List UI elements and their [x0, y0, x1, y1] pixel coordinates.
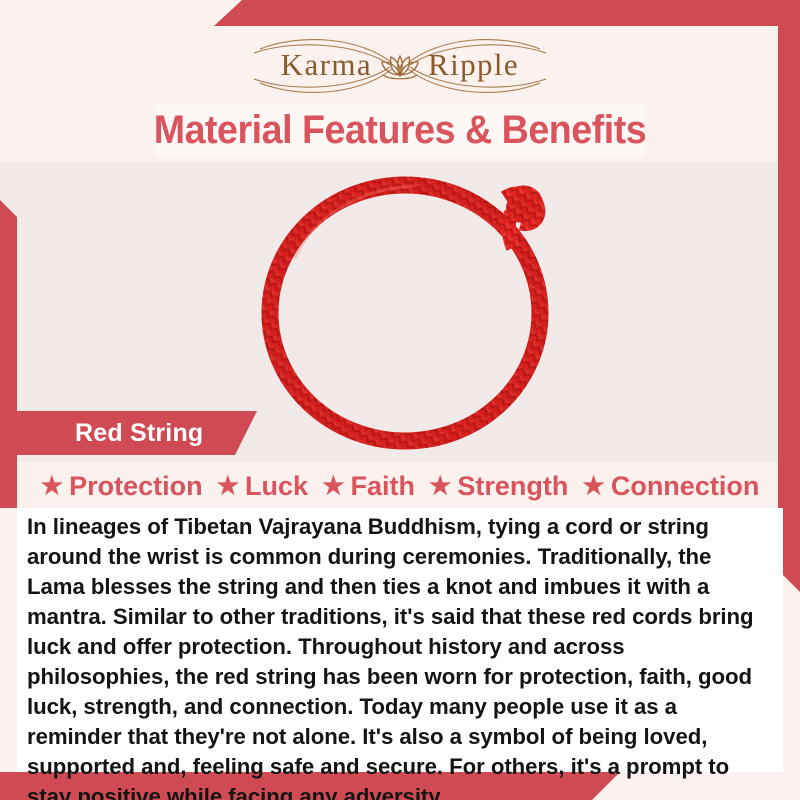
feature-label: Connection: [611, 471, 760, 502]
description-text: In lineages of Tibetan Vajrayana Buddhis…: [17, 512, 783, 800]
feature-label: Faith: [350, 471, 415, 502]
star-icon: ★: [582, 474, 604, 499]
feature-label: Luck: [245, 471, 308, 502]
feature-item-protection: ★ Protection: [34, 471, 210, 502]
feature-label: Protection: [69, 471, 203, 502]
bracelet-cord-shading: [270, 185, 540, 441]
description-panel: In lineages of Tibetan Vajrayana Buddhis…: [17, 508, 783, 772]
material-name: Red String: [75, 419, 203, 448]
brand-logo: Karma Ripple: [0, 34, 800, 98]
material-ribbon: Red String: [17, 411, 257, 455]
feature-item-strength: ★ Strength: [422, 471, 575, 502]
page-title: Material Features & Benefits: [154, 108, 647, 153]
feature-label: Strength: [457, 471, 568, 502]
feature-item-connection: ★ Connection: [575, 471, 766, 502]
decorative-frame-top-bar: [214, 0, 800, 26]
star-icon: ★: [429, 474, 451, 499]
brand-logo-svg: Karma Ripple: [220, 35, 580, 97]
product-image-red-string-bracelet: [255, 168, 585, 458]
product-info-poster: Karma Ripple Material Features & Benefit…: [0, 0, 800, 800]
bracelet-illustration: [255, 168, 585, 458]
star-icon: ★: [217, 474, 239, 499]
feature-item-faith: ★ Faith: [315, 471, 422, 502]
feature-item-luck: ★ Luck: [210, 471, 315, 502]
feature-list: ★ Protection ★ Luck ★ Faith ★ Strength ★…: [0, 466, 800, 506]
brand-name-left: Karma: [281, 47, 372, 82]
headline-band: Material Features & Benefits: [156, 104, 644, 156]
star-icon: ★: [322, 474, 344, 499]
decorative-frame-left-bar: [0, 200, 17, 508]
brand-name-right: Ripple: [428, 47, 519, 82]
star-icon: ★: [41, 474, 63, 499]
